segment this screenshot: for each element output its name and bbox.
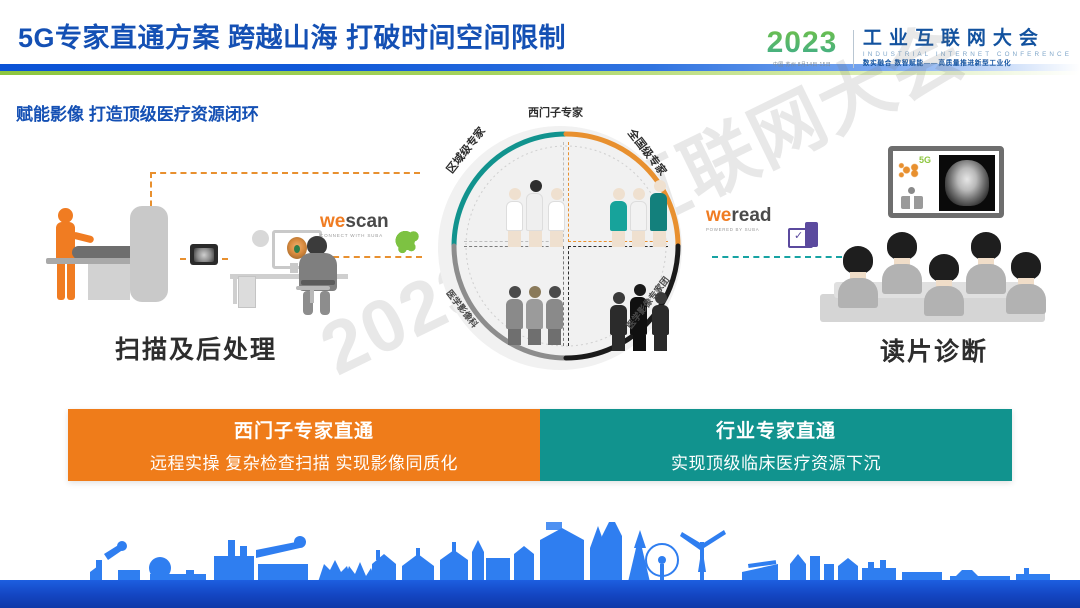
banner-right-heading: 行业专家直通 (716, 416, 836, 443)
audience-person (966, 232, 1006, 294)
logo-name-cn: 工业互联网大会 (863, 28, 1072, 50)
chair-stem (310, 289, 314, 303)
conference-logo: 2023 中国·苏州 8月14日-15日 工业互联网大会 INDUSTRIAL … (754, 28, 1072, 80)
screen-5g-badge: 5G (919, 155, 931, 165)
screen-dot-icon (908, 187, 915, 194)
logo-year: 2023 (754, 28, 850, 58)
banner-right: 行业专家直通 实现顶级临床医疗资源下沉 (540, 409, 1012, 481)
diagnosis-scene: 5G (820, 146, 1050, 326)
route-top-orange (150, 172, 420, 174)
right-caption: 读片诊断 (880, 332, 988, 368)
screen-people-icon (901, 196, 923, 209)
wescan-word-1: we (320, 211, 345, 232)
logo-tagline: 数实融合 数智赋能——高质量推进新型工业化 (863, 59, 1072, 69)
audience-group (820, 212, 1050, 322)
expert-circle-diagram: 西门子专家 区域级专家 全国级专家 医学影像科 医学影像专家团 (424, 104, 714, 379)
logo-text-block: 工业互联网大会 INDUSTRIAL INTERNET CONFERENCE 数… (863, 28, 1072, 69)
banner-left: 西门子专家直通 远程实操 复杂检查扫描 实现影像同质化 (68, 409, 540, 481)
banner-right-subheading: 实现顶级临床医疗资源下沉 (671, 449, 881, 474)
slide-header: 5G专家直通方案 跨越山海 打破时间空间限制 2023 中国·苏州 8月14日-… (0, 0, 1080, 72)
wescan-word-2: scan (345, 211, 388, 232)
city-industry-skyline-icon (0, 522, 1080, 582)
people-group-imaging (506, 286, 563, 345)
audience-person (882, 232, 922, 294)
monitor-check-icon (788, 222, 818, 250)
wescan-logo: wescan CONNECT WITH SUBA (320, 212, 420, 260)
ct-scanner-icon (130, 206, 168, 302)
people-group-national (610, 180, 669, 247)
audience-person (838, 246, 878, 308)
section-subtitle: 赋能影像 打造顶级医疗资源闭环 (16, 100, 259, 125)
label-siemens-experts: 西门子专家 (528, 104, 583, 120)
slide-root: 5G专家直通方案 跨越山海 打破时间空间限制 2023 中国·苏州 8月14日-… (0, 0, 1080, 608)
audience-person (924, 254, 964, 316)
people-group-region (506, 180, 565, 247)
logo-year-block: 2023 中国·苏州 8月14日-15日 (754, 28, 850, 68)
left-caption: 扫描及后处理 (115, 330, 277, 366)
desk-leg (233, 278, 237, 304)
banner-left-subheading: 远程实操 复杂检查扫描 实现影像同质化 (150, 449, 458, 474)
scanner-bed-base (88, 264, 130, 300)
slide-footer (0, 522, 1080, 608)
scan-thumbnail-icon (190, 244, 218, 265)
logo-divider (853, 30, 854, 68)
presentation-screen: 5G (888, 146, 1004, 218)
weread-word-1: we (706, 205, 731, 226)
pc-tower-icon (238, 276, 256, 308)
summary-banner: 西门子专家直通 远程实操 复杂检查扫描 实现影像同质化 行业专家直通 实现顶级临… (68, 409, 1012, 481)
wall-clock-icon (252, 230, 269, 247)
page-title: 5G专家直通方案 跨越山海 打破时间空间限制 (18, 16, 566, 55)
weread-logo: weread POWERED BY SUBA (706, 206, 814, 258)
brain-mri-scan-icon (939, 155, 995, 211)
banner-left-heading: 西门子专家直通 (234, 416, 374, 443)
audience-person (1006, 252, 1046, 314)
screen-left-panel: 5G (893, 151, 939, 213)
logo-date: 中国·苏州 8月14日-15日 (754, 61, 850, 68)
logo-name-en: INDUSTRIAL INTERNET CONFERENCE (863, 50, 1072, 59)
weread-word-2: read (731, 205, 771, 226)
footer-sea (0, 580, 1080, 608)
green-head-icon (394, 228, 422, 256)
